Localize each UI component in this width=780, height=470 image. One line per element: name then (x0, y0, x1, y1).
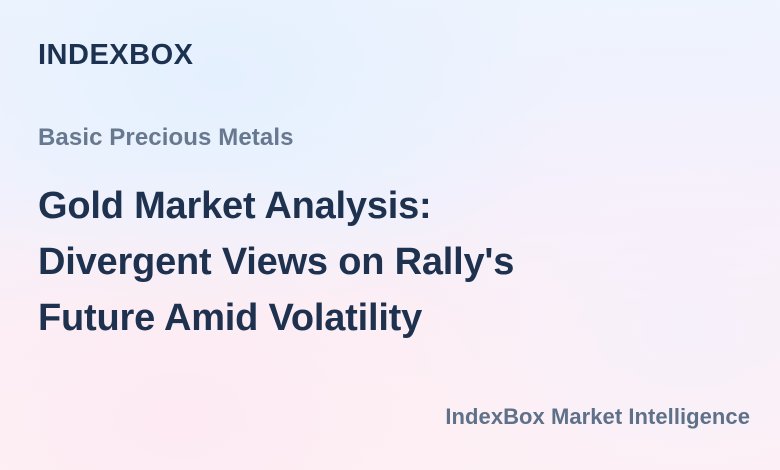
article-cover-card: INDEXBOX Basic Precious Metals Gold Mark… (0, 0, 780, 470)
cover-content: INDEXBOX Basic Precious Metals Gold Mark… (0, 0, 780, 470)
headline-line-3: Future Amid Volatility (38, 290, 678, 346)
headline-line-2: Divergent Views on Rally's (38, 234, 678, 290)
category-label: Basic Precious Metals (38, 124, 294, 153)
source-attribution: IndexBox Market Intelligence (445, 404, 750, 430)
article-headline: Gold Market Analysis: Divergent Views on… (38, 178, 678, 346)
indexbox-logo: INDEXBOX (38, 41, 193, 70)
headline-line-1: Gold Market Analysis: (38, 178, 678, 234)
